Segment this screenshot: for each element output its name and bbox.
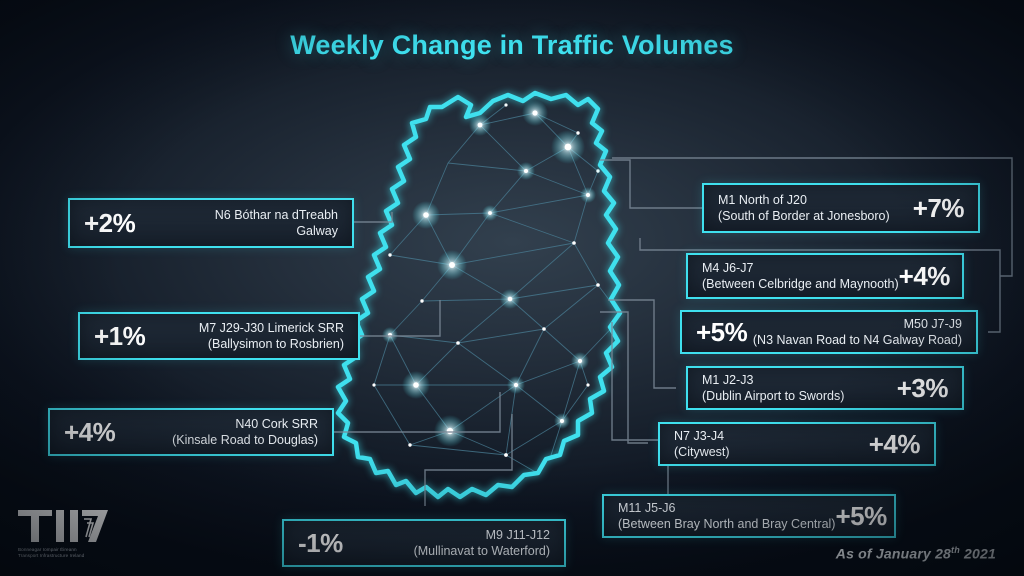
callout-label-line2: (South of Border at Jonesboro) — [718, 208, 890, 224]
tii-logo-mark — [18, 510, 114, 544]
callout-value: +5% — [696, 319, 747, 345]
tii-tagline-english: Transport Infrastructure Ireland — [18, 553, 188, 560]
as-of-ordinal: th — [951, 545, 960, 555]
callout-value: +5% — [835, 503, 886, 529]
callout-label-line1: N40 Cork SRR — [172, 416, 318, 432]
callout-label: M1 North of J20 (South of Border at Jone… — [718, 192, 890, 224]
callout-value: +4% — [64, 419, 115, 445]
callout-m1-north-j20[interactable]: M1 North of J20 (South of Border at Jone… — [702, 183, 980, 233]
callout-label-line1: M50 J7-J9 — [753, 316, 962, 332]
ireland-map — [330, 85, 690, 525]
callout-label: M7 J29-J30 Limerick SRR (Ballysimon to R… — [199, 320, 344, 352]
callout-label-line2: (Kinsale Road to Douglas) — [172, 432, 318, 448]
callout-label-line2: (Between Celbridge and Maynooth) — [702, 276, 899, 292]
callout-label-line2: (N3 Navan Road to N4 Galway Road) — [753, 332, 962, 348]
page-title: Weekly Change in Traffic Volumes — [0, 30, 1024, 61]
callout-value: +2% — [84, 210, 135, 236]
callout-value: +1% — [94, 323, 145, 349]
tii-logo: Bonneagar Iompair Éireann Transport Infr… — [18, 510, 188, 560]
callout-label: M9 J11-J12 (Mullinavat to Waterford) — [414, 527, 550, 559]
callout-label-line2: (Citywest) — [674, 444, 730, 460]
callout-value: +4% — [869, 431, 920, 457]
callout-label: M4 J6-J7 (Between Celbridge and Maynooth… — [702, 260, 899, 292]
callout-label: N7 J3-J4 (Citywest) — [674, 428, 730, 460]
callout-label-line1: M11 J5-J6 — [618, 500, 835, 516]
callout-value: +4% — [899, 263, 950, 289]
callout-label-line1: M1 J2-J3 — [702, 372, 844, 388]
callout-m4-j6-j7[interactable]: M4 J6-J7 (Between Celbridge and Maynooth… — [686, 253, 964, 299]
tii-tagline: Bonneagar Iompair Éireann Transport Infr… — [18, 547, 188, 560]
callout-m9-waterford[interactable]: -1% M9 J11-J12 (Mullinavat to Waterford) — [282, 519, 566, 567]
map-svg — [330, 85, 690, 525]
callout-m7-limerick[interactable]: +1% M7 J29-J30 Limerick SRR (Ballysimon … — [78, 312, 360, 360]
callout-label-line2: Galway — [215, 223, 338, 239]
callout-label: N6 Bóthar na dTreabh Galway — [215, 207, 338, 239]
callout-label-line1: M1 North of J20 — [718, 192, 890, 208]
callout-value: +3% — [897, 375, 948, 401]
callout-m1-j2-j3[interactable]: M1 J2-J3 (Dublin Airport to Swords) +3% — [686, 366, 964, 410]
callout-label-line2: (Dublin Airport to Swords) — [702, 388, 844, 404]
infographic-canvas: Weekly Change in Traffic Volumes +2% N6 … — [0, 0, 1024, 576]
callout-n6-galway[interactable]: +2% N6 Bóthar na dTreabh Galway — [68, 198, 354, 248]
callout-m11-j5-j6[interactable]: M11 J5-J6 (Between Bray North and Bray C… — [602, 494, 896, 538]
callout-m50-j7-j9[interactable]: +5% M50 J7-J9 (N3 Navan Road to N4 Galwa… — [680, 310, 978, 354]
callout-label-line1: M9 J11-J12 — [414, 527, 550, 543]
callout-label-line2: (Ballysimon to Rosbrien) — [199, 336, 344, 352]
as-of-prefix: As of January 28 — [836, 546, 951, 562]
tii-tagline-irish: Bonneagar Iompair Éireann — [18, 547, 188, 554]
callout-value: +7% — [913, 195, 964, 221]
as-of-date: As of January 28th 2021 — [836, 545, 996, 562]
callout-label-line1: M4 J6-J7 — [702, 260, 899, 276]
callout-label-line2: (Between Bray North and Bray Central) — [618, 516, 835, 532]
callout-label: M50 J7-J9 (N3 Navan Road to N4 Galway Ro… — [753, 316, 962, 348]
as-of-year: 2021 — [960, 546, 996, 562]
callout-value: -1% — [298, 530, 343, 556]
callout-n7-j3-j4[interactable]: N7 J3-J4 (Citywest) +4% — [658, 422, 936, 466]
callout-label-line1: N7 J3-J4 — [674, 428, 730, 444]
callout-label-line1: M7 J29-J30 Limerick SRR — [199, 320, 344, 336]
callout-label: M1 J2-J3 (Dublin Airport to Swords) — [702, 372, 844, 404]
callout-n40-cork[interactable]: +4% N40 Cork SRR (Kinsale Road to Dougla… — [48, 408, 334, 456]
callout-label-line2: (Mullinavat to Waterford) — [414, 543, 550, 559]
callout-label: M11 J5-J6 (Between Bray North and Bray C… — [618, 500, 835, 532]
callout-label: N40 Cork SRR (Kinsale Road to Douglas) — [172, 416, 318, 448]
callout-label-line1: N6 Bóthar na dTreabh — [215, 207, 338, 223]
